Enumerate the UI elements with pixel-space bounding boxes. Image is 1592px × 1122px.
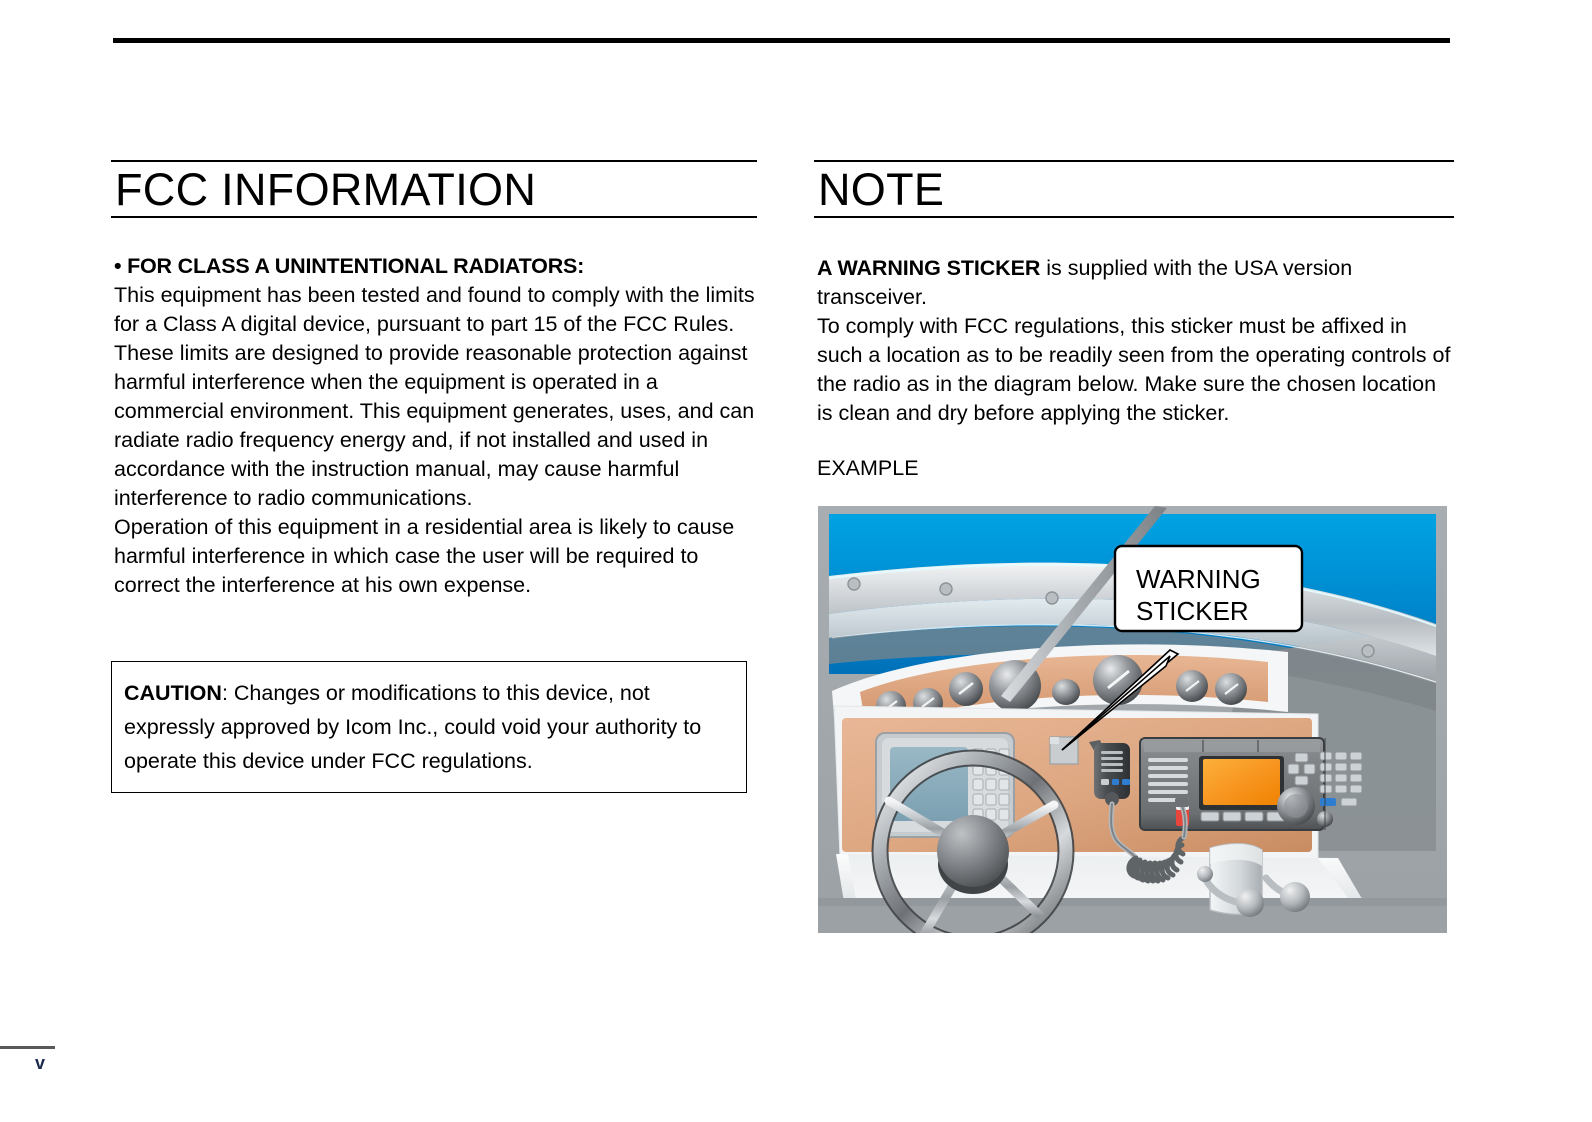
rivet — [1046, 592, 1058, 604]
note-body-text: A WARNING STICKER is supplied with the U… — [814, 254, 1454, 428]
rivet — [1362, 645, 1374, 657]
throttle-knob — [1236, 889, 1264, 917]
example-label: EXAMPLE — [814, 456, 1454, 481]
fcc-information-section-header: FCC INFORMATION — [111, 160, 757, 218]
note-paragraph-lead: A WARNING STICKER is supplied with the U… — [817, 254, 1454, 312]
caution-box: CAUTION: Changes or modifications to thi… — [111, 661, 747, 793]
boat-console-illustration: WARNING STICKER — [818, 506, 1447, 933]
heading-rule-bottom — [111, 216, 757, 218]
mic-plug — [1175, 798, 1189, 807]
wheel-hub — [937, 815, 1009, 887]
warning-sticker-lead: A WARNING STICKER — [817, 256, 1040, 280]
rivet — [848, 578, 860, 590]
caution-label: CAUTION — [124, 681, 222, 705]
page-number: v — [35, 1053, 45, 1074]
page-title-fcc-information: FCC INFORMATION — [111, 162, 757, 215]
throttle-knob — [1280, 882, 1310, 912]
radio-blue-key — [1320, 798, 1336, 806]
note-heading-rule-bottom — [814, 216, 1454, 218]
right-column: NOTE A WARNING STICKER is supplied with … — [814, 160, 1454, 481]
rivet — [940, 583, 952, 595]
callout-text-line-2: STICKER — [1136, 596, 1249, 626]
footer-rule — [0, 1046, 55, 1049]
radio-display — [1203, 759, 1280, 805]
page-title-note: NOTE — [814, 162, 1454, 215]
class-a-radiators-heading: • FOR CLASS A UNINTENTIONAL RADIATORS: — [114, 252, 757, 281]
warning-sticker-callout: WARNING STICKER — [1115, 546, 1302, 631]
callout-text-line-1: WARNING — [1136, 564, 1261, 594]
page-top-rule — [113, 38, 1450, 43]
note-section-header: NOTE — [814, 160, 1454, 218]
fcc-paragraph-2: Operation of this equipment in a residen… — [114, 513, 757, 600]
fcc-paragraph-1: This equipment has been tested and found… — [114, 281, 757, 513]
fcc-body-text: • FOR CLASS A UNINTENTIONAL RADIATORS: T… — [111, 252, 757, 600]
left-column: FCC INFORMATION • FOR CLASS A UNINTENTIO… — [111, 160, 757, 600]
dash-button — [1052, 679, 1080, 705]
note-paragraph-body: To comply with FCC regulations, this sti… — [817, 312, 1454, 428]
